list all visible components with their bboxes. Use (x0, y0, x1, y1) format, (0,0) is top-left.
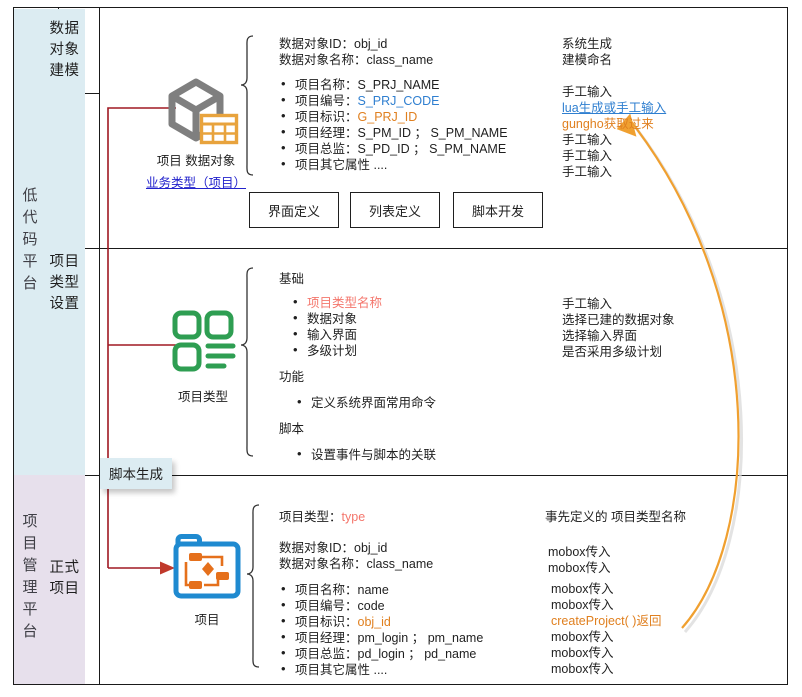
row2-caption: 项目类型 (138, 386, 268, 405)
row1-header-1: 数据对象名称：class_name (279, 52, 508, 68)
row1-bullet-list: 项目名称：S_PRJ_NAME 项目编号：S_PRJ_CODE 项目标识：G_P… (279, 77, 508, 173)
list-item: 多级计划 (291, 343, 436, 359)
annotation-text: mobox传入 (551, 629, 661, 645)
group-label-lowcode: 低代码平台 (22, 187, 37, 297)
row1-annotations: 手工输入 lua生成或手工输入 gungho获取过来 手工输入 手工输入 手工输… (562, 84, 666, 180)
list-item: 项目总监：pd_login ； pd_name (279, 646, 483, 662)
list-item: 项目经理：pm_login ； pm_name (279, 630, 483, 646)
stage-cell-project-type: 项目类型设置 (44, 93, 85, 475)
annotation-text: 系统生成 (562, 36, 612, 52)
button-script-development[interactable]: 脚本开发 (453, 192, 543, 228)
row1-icon-caption: 项目 数据对象 业务类型（项目） (131, 146, 261, 191)
stage-label-formal-project: 正式项目 (50, 558, 80, 600)
list-item: 项目类型名称 (291, 295, 436, 311)
annotation-text: 建模命名 (562, 52, 612, 68)
stage-label-project-type: 项目类型设置 (50, 252, 80, 315)
section-title: 功能 (279, 369, 436, 385)
annotation-text: mobox传入 (548, 544, 611, 560)
row3-header-1: 数据对象名称：class_name (279, 556, 483, 572)
list-item: 项目其它属性 .... (279, 662, 483, 678)
list-item: 项目编号：S_PRJ_CODE (279, 93, 508, 109)
row1-annotations-head: 系统生成 建模命名 (562, 36, 612, 68)
stage-cell-data-modeling: 数据对象建模 (44, 9, 85, 93)
annotation-text: 手工输入 (562, 84, 666, 100)
row3-spec-block: 项目类型：type 数据对象ID：obj_id 数据对象名称：class_nam… (279, 509, 483, 678)
list-item: 项目编号：code (279, 598, 483, 614)
section-title: 基础 (279, 271, 436, 287)
row2-function-list: 定义系统界面常用命令 (279, 395, 436, 411)
row3-header-0: 数据对象ID：obj_id (279, 540, 483, 556)
annotation-text: mobox传入 (548, 560, 611, 576)
annotation-text: mobox传入 (551, 661, 661, 677)
list-item: 项目名称：S_PRJ_NAME (279, 77, 508, 93)
row2-spec-block: 基础 项目类型名称 数据对象 输入界面 多级计划 功能 定义系统界面常用命令 脚… (279, 271, 436, 463)
annotation-text: 手工输入 (562, 164, 666, 180)
script-generation-callout: 脚本生成 (100, 458, 172, 489)
annotation-text: lua生成或手工输入 (562, 100, 666, 116)
list-item: 项目标识：G_PRJ_ID (279, 109, 508, 125)
annotation-text: 手工输入 (562, 132, 666, 148)
row2-basic-list: 项目类型名称 数据对象 输入界面 多级计划 (279, 295, 436, 359)
list-item: 输入界面 (291, 327, 436, 343)
row2-script-list: 设置事件与脚本的关联 (279, 447, 436, 463)
row3-annotations: mobox传入 mobox传入 createProject( )返回 mobox… (551, 581, 661, 677)
list-item: 项目其它属性 .... (279, 157, 508, 173)
column-separator-2 (99, 8, 100, 684)
section-title: 脚本 (279, 421, 436, 437)
button-list-definition[interactable]: 列表定义 (350, 192, 440, 228)
annotation-text: 选择已建的数据对象 (562, 312, 675, 328)
group-cell-pm: 项目管理平台 (14, 475, 44, 684)
row3-annotations-head: mobox传入 mobox传入 (548, 544, 611, 576)
stage-label-data-modeling: 数据对象建模 (50, 19, 80, 82)
list-item: 数据对象 (291, 311, 436, 327)
row2-annotations: 手工输入 选择已建的数据对象 选择输入界面 是否采用多级计划 (562, 296, 675, 360)
annotation-text: mobox传入 (551, 581, 661, 597)
annotation-text: createProject( )返回 (551, 613, 661, 629)
row-separator-1 (14, 248, 787, 249)
row2-icon-caption: 项目类型 (138, 382, 268, 405)
annotation-text: 手工输入 (562, 296, 675, 312)
row3-annotation-type: 事先定义的 项目类型名称 (545, 509, 686, 525)
list-item: 设置事件与脚本的关联 (295, 447, 436, 463)
list-item: 项目总监：S_PD_ID ； S_PM_NAME (279, 141, 508, 157)
list-item: 定义系统界面常用命令 (295, 395, 436, 411)
annotation-text: mobox传入 (551, 645, 661, 661)
diagram-canvas: 低代码平台 项目管理平台 数据对象建模 项目类型设置 正式项目 (0, 0, 802, 697)
group-cell-lowcode: 低代码平台 (14, 9, 44, 475)
row3-icon-caption: 项目 (142, 605, 272, 628)
button-ui-definition[interactable]: 界面定义 (249, 192, 339, 228)
annotation-text: mobox传入 (551, 597, 661, 613)
list-item: 项目标识：obj_id (279, 614, 483, 630)
row1-caption-link[interactable]: 业务类型（项目） (131, 172, 261, 191)
stage-cell-formal-project: 正式项目 (44, 475, 85, 684)
annotation-text: 选择输入界面 (562, 328, 675, 344)
row3-bullet-list: 项目名称：name 项目编号：code 项目标识：obj_id 项目经理：pm_… (279, 582, 483, 678)
list-item: 项目名称：name (279, 582, 483, 598)
row1-header-0: 数据对象ID：obj_id (279, 36, 508, 52)
annotation-text: 是否采用多级计划 (562, 344, 675, 360)
row1-caption: 项目 数据对象 (131, 150, 261, 169)
list-item: 项目经理：S_PM_ID ； S_PM_NAME (279, 125, 508, 141)
row1-spec-block: 数据对象ID：obj_id 数据对象名称：class_name 项目名称：S_P… (279, 36, 508, 173)
annotation-text: 手工输入 (562, 148, 666, 164)
group-label-pm: 项目管理平台 (22, 513, 37, 645)
annotation-text: gungho获取过来 (562, 116, 666, 132)
row3-type-line: 项目类型：type (279, 509, 483, 525)
row3-caption: 项目 (142, 609, 272, 628)
